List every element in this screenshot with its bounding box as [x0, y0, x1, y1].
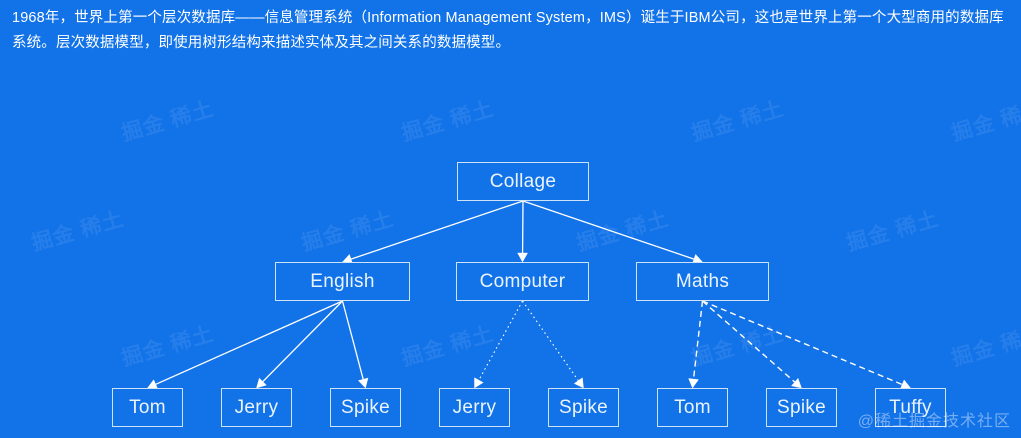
tree-edge-arrowhead	[518, 253, 528, 262]
tree-node-english[interactable]: English	[275, 262, 410, 301]
tree-node-label: Computer	[480, 272, 566, 291]
tree-node-maths[interactable]: Maths	[636, 262, 769, 301]
tree-edge-arrowhead	[689, 378, 699, 388]
tree-node-computer[interactable]: Computer	[456, 262, 589, 301]
tree-node-label: Spike	[341, 398, 390, 417]
tree-edge-english-to-jerry1	[263, 301, 343, 382]
tree-edge-arrowhead	[257, 378, 267, 388]
tree-node-label: Jerry	[453, 398, 497, 417]
tree-node-jerry2[interactable]: Jerry	[439, 388, 510, 427]
tree-edge-arrowhead	[358, 378, 368, 388]
hierarchical-tree-diagram: CollageEnglishComputerMathsTomJerrySpike…	[0, 0, 1021, 438]
tree-node-label: Tom	[129, 398, 166, 417]
tree-node-label: Tom	[674, 398, 711, 417]
tree-edge-collage-to-english	[351, 201, 523, 259]
tree-node-jerry1[interactable]: Jerry	[221, 388, 292, 427]
tree-node-collage[interactable]: Collage	[457, 162, 589, 201]
tree-node-tom2[interactable]: Tom	[657, 388, 728, 427]
tree-node-label: Jerry	[235, 398, 279, 417]
tree-node-spike3[interactable]: Spike	[766, 388, 837, 427]
tree-node-label: Maths	[676, 272, 729, 291]
tree-edge-collage-to-maths	[523, 201, 694, 259]
diagram-page: 掘金 稀土掘金 稀土掘金 稀土掘金 稀土掘金 稀土掘金 稀土掘金 稀土掘金 稀土…	[0, 0, 1021, 438]
tree-edge-maths-to-tuffy	[703, 301, 903, 385]
tree-node-tom1[interactable]: Tom	[112, 388, 183, 427]
tree-edge-maths-to-tom2	[694, 301, 703, 379]
tree-edge-english-to-spike1	[343, 301, 364, 379]
tree-edge-english-to-tom1	[156, 301, 343, 384]
tree-edge-arrowhead	[791, 378, 801, 388]
tree-node-label: Tuffy	[889, 398, 932, 417]
tree-node-tuffy[interactable]: Tuffy	[875, 388, 946, 427]
tree-edge-computer-to-jerry2	[479, 301, 523, 380]
tree-edge-arrowhead	[474, 378, 483, 388]
tree-edge-computer-to-spike2	[523, 301, 579, 381]
tree-edge-maths-to-spike3	[703, 301, 795, 382]
tree-node-spike1[interactable]: Spike	[330, 388, 401, 427]
tree-edges	[0, 0, 1021, 438]
tree-node-label: English	[310, 272, 374, 291]
tree-node-spike2[interactable]: Spike	[548, 388, 619, 427]
tree-edge-arrowhead	[574, 378, 583, 388]
tree-node-label: Collage	[490, 172, 557, 191]
tree-node-label: Spike	[559, 398, 608, 417]
tree-node-label: Spike	[777, 398, 826, 417]
